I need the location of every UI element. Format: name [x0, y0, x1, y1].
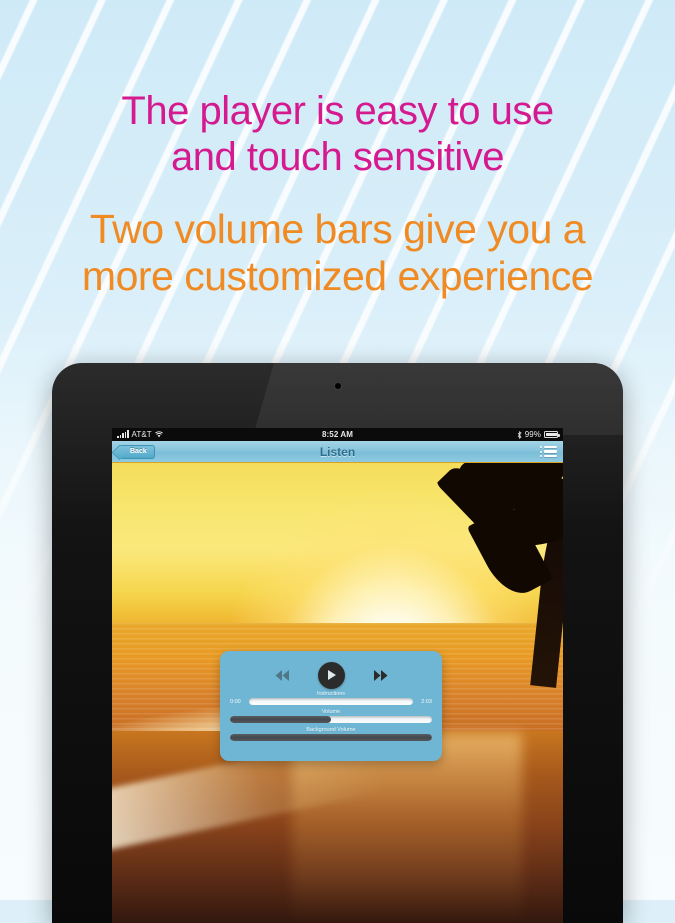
heading-secondary: Two volume bars give you a more customiz…	[0, 206, 675, 300]
front-camera-icon	[335, 383, 341, 389]
track-title-label: Instructions	[230, 690, 432, 698]
back-button[interactable]: Back	[118, 445, 155, 459]
background-volume-fill	[230, 734, 432, 741]
background-volume-row	[230, 734, 432, 741]
heading-primary-line-2: and touch sensitive	[0, 134, 675, 180]
background-volume-slider[interactable]	[230, 734, 432, 741]
play-button[interactable]	[318, 662, 345, 689]
carrier-label: AT&T	[132, 430, 152, 439]
progress-slider[interactable]	[249, 698, 413, 705]
status-bar-left: AT&T	[117, 430, 163, 439]
volume-row	[230, 716, 432, 723]
battery-icon	[544, 431, 558, 438]
bezel-highlight	[253, 363, 623, 435]
device-screen: AT&T 8:52 AM 99% Back Listen	[112, 428, 563, 923]
page-title: Listen	[112, 445, 563, 459]
back-button-label: Back	[130, 448, 147, 455]
volume-slider[interactable]	[230, 716, 432, 723]
transport-controls	[230, 660, 432, 690]
promo-headings: The player is easy to use and touch sens…	[0, 88, 675, 300]
volume-fill	[230, 716, 331, 723]
signal-bars-icon	[117, 431, 129, 438]
wifi-icon	[155, 431, 163, 438]
heading-secondary-line-2: more customized experience	[0, 253, 675, 300]
battery-percent-label: 99%	[525, 430, 541, 439]
heading-secondary-line-1: Two volume bars give you a	[0, 206, 675, 253]
tablet-device: AT&T 8:52 AM 99% Back Listen	[52, 363, 623, 923]
progress-row: 0:00 2:03	[230, 698, 432, 705]
rewind-icon[interactable]	[274, 669, 290, 682]
volume-label: Volume	[230, 708, 432, 716]
play-icon	[326, 669, 337, 681]
heading-primary: The player is easy to use and touch sens…	[0, 88, 675, 180]
elapsed-time: 0:00	[230, 699, 244, 705]
beach-sunset-photo: Instructions 0:00 2:03 Volume Background…	[112, 463, 563, 923]
duration-time: 2:03	[418, 699, 432, 705]
heading-primary-line-1: The player is easy to use	[0, 88, 675, 134]
background-volume-label: Background Volume	[230, 726, 432, 734]
list-menu-icon[interactable]	[540, 446, 557, 458]
bluetooth-icon	[517, 431, 522, 439]
navigation-bar: Back Listen	[112, 441, 563, 463]
fast-forward-icon[interactable]	[373, 669, 389, 682]
status-bar-right: 99%	[517, 430, 558, 439]
audio-player-panel: Instructions 0:00 2:03 Volume Background…	[220, 651, 442, 761]
status-bar: AT&T 8:52 AM 99%	[112, 428, 563, 441]
status-bar-time: 8:52 AM	[112, 430, 563, 439]
